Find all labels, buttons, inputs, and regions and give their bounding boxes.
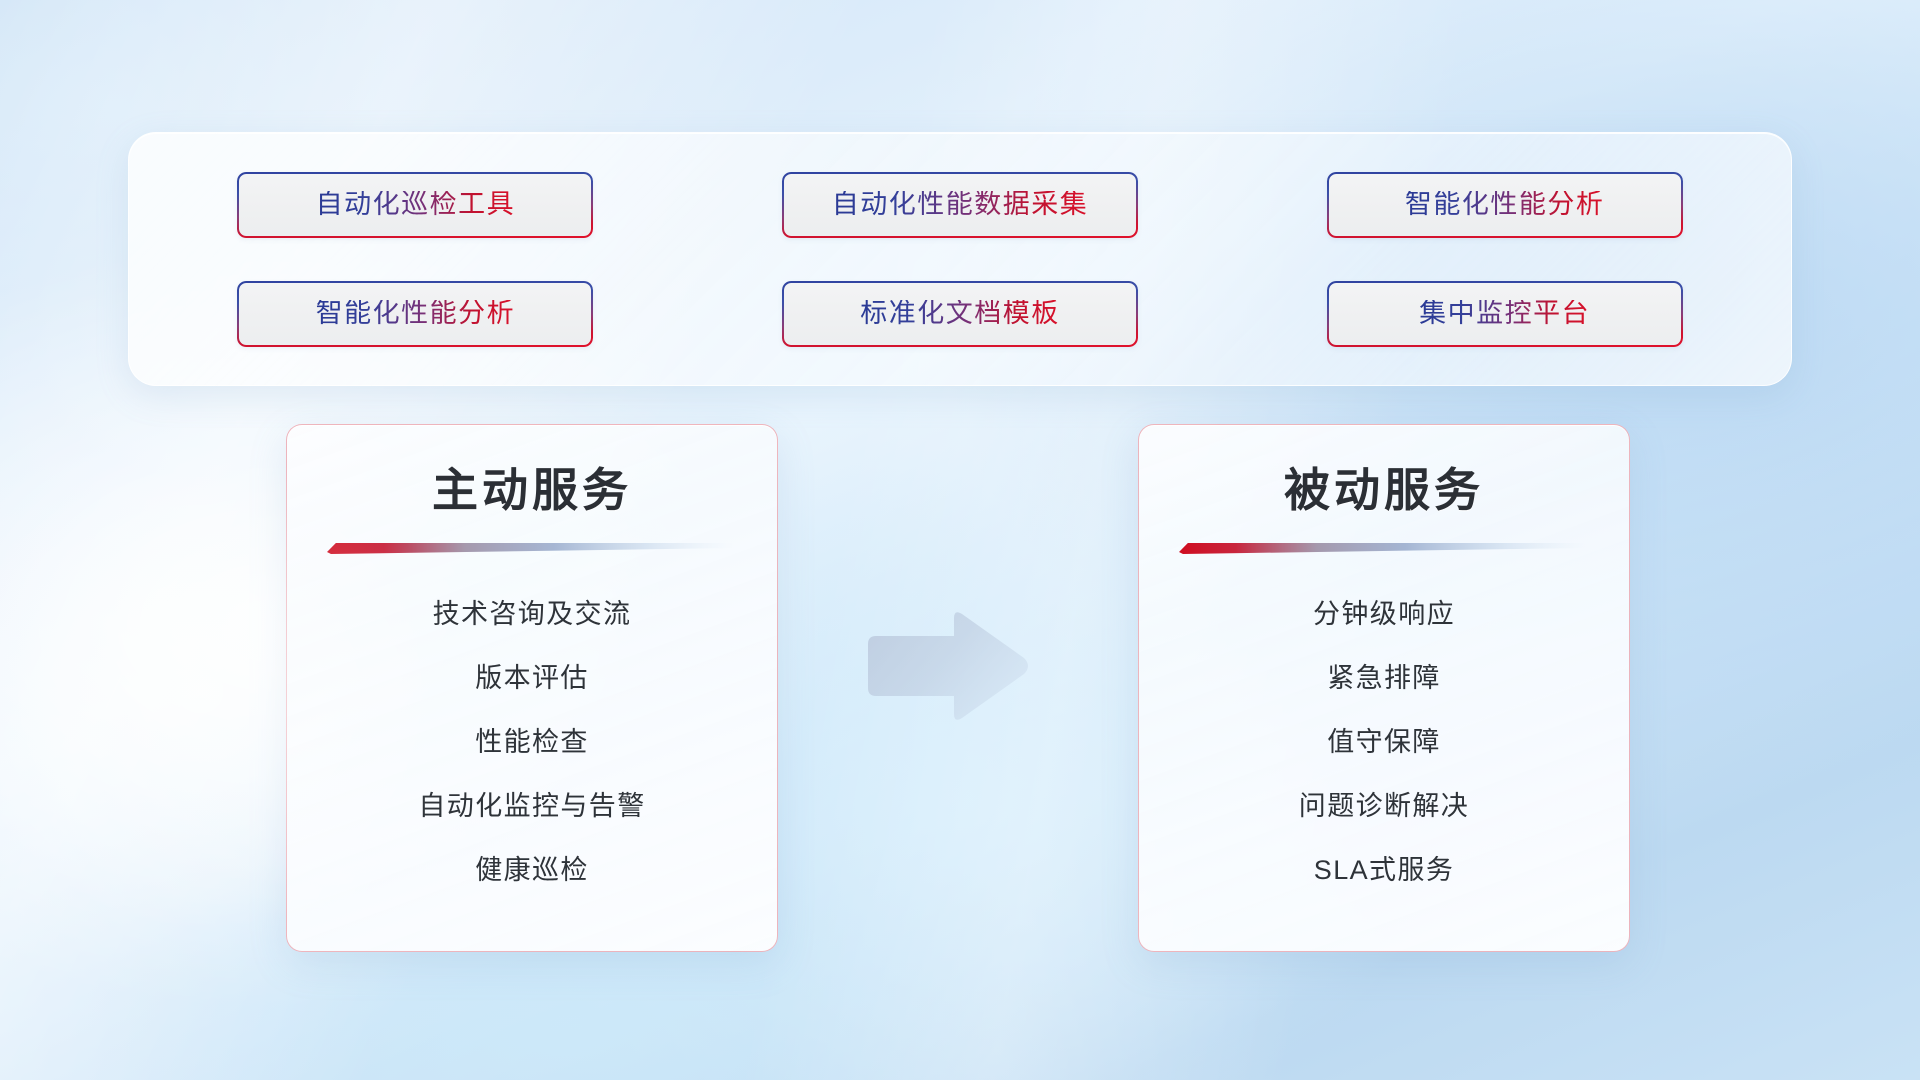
capability-pill-label: 智能化性能分析 bbox=[1405, 191, 1605, 218]
service-card-active: 主动服务 技术咨询及交流 版本评估 性能检查 bbox=[286, 424, 778, 952]
list-item: 分钟级响应 bbox=[1313, 601, 1455, 628]
capability-pill-5[interactable]: 标准化文档模板 bbox=[782, 281, 1138, 347]
capability-pill-label: 集中监控平台 bbox=[1419, 300, 1590, 327]
list-item: 健康巡检 bbox=[475, 857, 589, 884]
list-item: 版本评估 bbox=[475, 665, 589, 692]
capabilities-panel: 自动化巡检工具 自动化性能数据采集 智能化性能分析 智能化性能分析 标准化文档模… bbox=[128, 132, 1792, 386]
capability-pill-6[interactable]: 集中监控平台 bbox=[1327, 281, 1683, 347]
list-item: SLA式服务 bbox=[1314, 857, 1454, 884]
capability-pill-1[interactable]: 自动化巡检工具 bbox=[237, 172, 593, 238]
capability-pill-3[interactable]: 智能化性能分析 bbox=[1327, 172, 1683, 238]
capability-pill-label: 智能化性能分析 bbox=[316, 300, 516, 327]
capability-pill-label: 标准化文档模板 bbox=[860, 300, 1060, 327]
diagram-canvas: 自动化巡检工具 自动化性能数据采集 智能化性能分析 智能化性能分析 标准化文档模… bbox=[0, 0, 1920, 1080]
card-title: 被动服务 bbox=[1179, 465, 1589, 517]
card-title: 主动服务 bbox=[327, 465, 737, 517]
capability-pill-label: 自动化性能数据采集 bbox=[832, 191, 1089, 218]
title-divider bbox=[1179, 541, 1585, 555]
list-item: 紧急排障 bbox=[1327, 665, 1441, 692]
capability-pill-2[interactable]: 自动化性能数据采集 bbox=[782, 172, 1138, 238]
arrow-right-icon bbox=[862, 606, 1032, 726]
list-item: 自动化监控与告警 bbox=[418, 793, 645, 820]
card-item-list: 分钟级响应 紧急排障 值守保障 问题诊断解决 SLA式服务 bbox=[1179, 561, 1589, 921]
service-card-passive: 被动服务 分钟级响应 紧急排障 值守保障 bbox=[1138, 424, 1630, 952]
capability-pill-4[interactable]: 智能化性能分析 bbox=[237, 281, 593, 347]
list-item: 问题诊断解决 bbox=[1299, 793, 1469, 820]
capability-pill-label: 自动化巡检工具 bbox=[316, 191, 516, 218]
card-item-list: 技术咨询及交流 版本评估 性能检查 自动化监控与告警 健康巡检 bbox=[327, 561, 737, 921]
list-item: 性能检查 bbox=[475, 729, 589, 756]
list-item: 技术咨询及交流 bbox=[433, 601, 632, 628]
list-item: 值守保障 bbox=[1327, 729, 1441, 756]
title-divider bbox=[327, 541, 733, 555]
